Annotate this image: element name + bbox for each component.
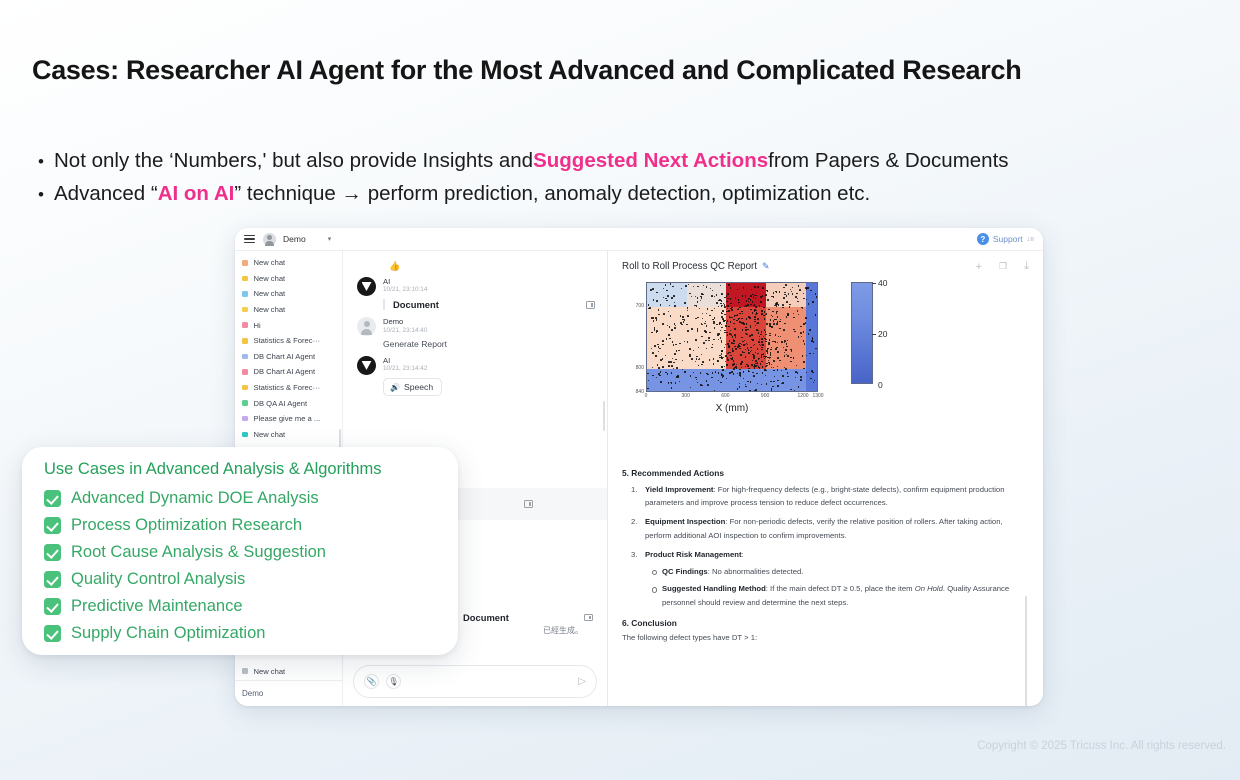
speech-icon: 🔊: [390, 383, 400, 392]
chat-label: Statistics & Forec···: [254, 336, 321, 345]
item-bold: Yield Improvement: [645, 485, 714, 494]
x-tick-label: 300: [682, 393, 690, 399]
bullet-text-post: from Papers & Documents: [768, 144, 1008, 177]
chat-scrollbar[interactable]: [603, 401, 606, 431]
copy-icon[interactable]: ❐: [999, 261, 1007, 272]
colorbar-tick-label: 0: [878, 380, 883, 390]
item-bold: Product Risk Management: [645, 550, 742, 559]
check-icon: [44, 490, 61, 507]
report-toolbar: + ❐ ⤓: [976, 260, 1029, 273]
bullet-marker: •: [38, 148, 54, 176]
list-item: Supply Chain Optimization: [44, 620, 438, 647]
chat-label: New chat: [254, 305, 286, 314]
chat-label: DB Chart AI Agent: [254, 352, 316, 361]
ai-avatar-icon: [357, 356, 376, 375]
list-item[interactable]: Please give me a ...: [235, 411, 342, 427]
chat-color-dot: [242, 432, 248, 438]
list-item: Equipment Inspection: For non-periodic d…: [631, 515, 1021, 541]
list-item: Root Cause Analysis & Suggestion: [44, 539, 438, 566]
bullet-item-2: • Advanced “AI on AI” technique → perfor…: [38, 177, 1228, 210]
item-text: :: [742, 550, 744, 559]
x-tick-label: 600: [721, 393, 729, 399]
chat-message-user: Demo 10/21, 23:14:40 Generate Report: [357, 317, 595, 348]
download-icon[interactable]: ⤓: [1024, 260, 1029, 273]
x-tick-label: 1200: [797, 393, 808, 399]
list-item: Yield Improvement: For high-frequency de…: [631, 483, 1021, 509]
chat-color-dot: [242, 369, 248, 375]
message-author: AI: [383, 356, 595, 365]
copyright-footer: Copyright © 2025 Tricuss Inc. All rights…: [977, 740, 1226, 752]
check-icon: [44, 625, 61, 642]
message-timestamp: 10/21, 23:14:42: [383, 365, 595, 374]
bullet-marker: •: [38, 181, 54, 209]
item-text: : If the main defect DT ≥ 0.5, place the…: [766, 584, 915, 593]
chat-color-dot: [242, 416, 248, 422]
use-case-label: Predictive Maintenance: [71, 597, 243, 616]
heatmap-plot-area: 700 800 840: [628, 282, 824, 422]
item-bold: Suggested Handling Method: [662, 584, 766, 593]
sidebar-account-footer[interactable]: Demo: [235, 680, 342, 706]
use-case-label: Root Cause Analysis & Suggestion: [71, 543, 326, 562]
hamburger-icon[interactable]: [244, 235, 255, 244]
generation-note: 已經生成。: [543, 625, 583, 636]
document-title: Document: [393, 299, 439, 310]
check-icon: [44, 598, 61, 615]
user-avatar-icon: [357, 317, 376, 336]
report-title: Roll to Roll Process QC Report: [622, 261, 757, 272]
check-icon: [44, 571, 61, 588]
item-text: : No abnormalities detected.: [708, 567, 804, 576]
ai-avatar-icon: [357, 277, 376, 296]
sidebar-account-label: Demo: [242, 689, 263, 698]
app-topbar: Demo ▾ ? Support ↓ıı: [235, 228, 1043, 251]
list-item: QC Findings: No abnormalities detected.: [651, 565, 1021, 578]
document-attachment-bottom[interactable]: Document: [453, 612, 593, 623]
chat-color-dot: [242, 291, 248, 297]
risk-sub-list: QC Findings: No abnormalities detected. …: [651, 565, 1021, 609]
heatmap-cells: [646, 282, 818, 392]
chat-message-ai-document: AI 10/21, 23:10:14 Document: [357, 277, 595, 310]
chat-color-dot: [242, 276, 248, 282]
question-icon: ?: [977, 233, 989, 245]
chat-label: New chat: [254, 274, 286, 283]
document-attachment[interactable]: Document: [383, 299, 595, 310]
list-item: Suggested Handling Method: If the main d…: [651, 582, 1021, 608]
message-timestamp: 10/21, 23:10:14: [383, 286, 595, 295]
qc-heatmap-chart: 700 800 840: [622, 282, 1029, 422]
report-panel: Roll to Roll Process QC Report ✎ + ❐ ⤓ 7…: [608, 251, 1043, 706]
list-item[interactable]: DB Chart AI Agent: [235, 364, 342, 380]
item-bold: QC Findings: [662, 567, 708, 576]
message-author: AI: [383, 277, 595, 286]
chat-label: New chat: [254, 430, 286, 439]
list-item[interactable]: Statistics & Forec···: [235, 380, 342, 396]
page-title: Cases: Researcher AI Agent for the Most …: [32, 55, 1021, 86]
colorbar-tick-mark: [872, 283, 876, 284]
use-case-label: Supply Chain Optimization: [71, 624, 265, 643]
section-paragraph: The following defect types have DT > 1:: [622, 633, 1021, 642]
bullet-text-post: ” technique → perform prediction, anomal…: [234, 177, 870, 210]
plus-icon[interactable]: +: [976, 261, 982, 273]
message-text: Generate Report: [383, 339, 595, 349]
use-cases-title: Use Cases in Advanced Analysis & Algorit…: [44, 460, 438, 479]
bullet-highlight: Suggested Next Actions: [533, 144, 768, 177]
check-icon: [44, 544, 61, 561]
open-panel-icon[interactable]: [584, 614, 593, 622]
list-item: Product Risk Management: QC Findings: No…: [631, 548, 1021, 609]
list-item[interactable]: New chat: [235, 286, 342, 302]
item-emphasis: On Hold: [915, 584, 943, 593]
chat-color-dot: [242, 354, 248, 360]
support-tail-icon: ↓ıı: [1027, 236, 1034, 243]
x-tick-label: 0: [645, 393, 648, 399]
send-icon[interactable]: ▷: [578, 676, 586, 687]
check-icon: [44, 517, 61, 534]
y-tick-label: 800: [636, 365, 644, 371]
chevron-down-icon[interactable]: ▾: [328, 235, 332, 243]
chat-message-ai-speech: AI 10/21, 23:14:42 🔊 Speech: [357, 356, 595, 396]
support-label: Support: [993, 234, 1023, 244]
pencil-icon[interactable]: ✎: [762, 261, 770, 272]
x-axis-label: X (mm): [646, 403, 818, 414]
list-item[interactable]: DB Chart AI Agent: [235, 349, 342, 365]
chat-color-dot: [242, 307, 248, 313]
colorbar-tick-label: 40: [878, 278, 887, 288]
list-item-bottom[interactable]: New chat: [235, 662, 342, 680]
use-case-label: Process Optimization Research: [71, 516, 302, 535]
bullet-list: • Not only the ‘Numbers,' but also provi…: [38, 144, 1228, 210]
bullet-text-pre: Not only the ‘Numbers,' but also provide…: [54, 144, 533, 177]
use-cases-card: Use Cases in Advanced Analysis & Algorit…: [22, 447, 458, 655]
chat-label: New chat: [254, 667, 286, 676]
colorbar-tick-mark: [872, 334, 876, 335]
message-timestamp: 10/21, 23:14:40: [383, 327, 595, 336]
message-composer[interactable]: 📎 🎙 ▷: [353, 665, 597, 698]
recommended-actions-list: Yield Improvement: For high-frequency de…: [631, 483, 1021, 609]
colorbar-gradient: [851, 282, 873, 384]
colorbar: 40 20 0: [851, 282, 873, 422]
chat-color-dot: [242, 322, 248, 328]
chat-color-dot: [242, 668, 248, 674]
report-header: Roll to Roll Process QC Report ✎ + ❐ ⤓: [622, 260, 1029, 273]
open-panel-icon[interactable]: [586, 301, 595, 309]
microphone-icon[interactable]: 🎙: [386, 674, 401, 689]
bullet-item-1: • Not only the ‘Numbers,' but also provi…: [38, 144, 1228, 177]
paperclip-icon[interactable]: 📎: [364, 674, 379, 689]
chat-label: Statistics & Forec···: [254, 383, 321, 392]
chat-color-dot: [242, 400, 248, 406]
chat-label: DB QA AI Agent: [254, 399, 308, 408]
avatar[interactable]: [263, 233, 276, 246]
x-tick-label: 1300: [812, 393, 823, 399]
x-tick-label: 900: [761, 393, 769, 399]
list-item: Quality Control Analysis: [44, 566, 438, 593]
item-bold: Equipment Inspection: [645, 517, 725, 526]
y-tick-label: 840: [636, 389, 644, 395]
list-item: Predictive Maintenance: [44, 593, 438, 620]
use-case-label: Advanced Dynamic DOE Analysis: [71, 489, 319, 508]
colorbar-tick-label: 20: [878, 329, 887, 339]
section-heading: 5. Recommended Actions: [622, 468, 1021, 478]
chat-label: Hi: [254, 321, 261, 330]
list-item[interactable]: New chat: [235, 255, 342, 271]
list-item: Advanced Dynamic DOE Analysis: [44, 485, 438, 512]
section-heading: 6. Conclusion: [622, 618, 1021, 628]
chat-label: DB Chart AI Agent: [254, 367, 316, 376]
chat-label: New chat: [254, 258, 286, 267]
thumbs-up-icon[interactable]: 👍: [389, 261, 595, 272]
list-item[interactable]: New chat: [235, 427, 342, 443]
document-title: Document: [463, 612, 509, 623]
list-item[interactable]: New chat: [235, 271, 342, 287]
list-item[interactable]: DB QA AI Agent: [235, 395, 342, 411]
use-case-label: Quality Control Analysis: [71, 570, 245, 589]
defect-scatter-points: [647, 283, 817, 391]
speech-label: Speech: [404, 382, 433, 392]
support-button[interactable]: ? Support ↓ıı: [977, 233, 1034, 245]
chat-color-dot: [242, 338, 248, 344]
open-panel-icon[interactable]: [524, 500, 533, 508]
speech-button[interactable]: 🔊 Speech: [383, 378, 442, 396]
report-content: 5. Recommended Actions Yield Improvement…: [622, 468, 1029, 642]
list-item: Process Optimization Research: [44, 512, 438, 539]
chat-label: Please give me a ...: [254, 414, 321, 423]
account-name: Demo: [283, 234, 306, 244]
list-item[interactable]: New chat: [235, 302, 342, 318]
bullet-highlight: AI on AI: [158, 177, 235, 210]
list-item[interactable]: Statistics & Forec···: [235, 333, 342, 349]
y-axis: 700 800 840: [628, 282, 646, 392]
list-item[interactable]: Hi: [235, 317, 342, 333]
y-tick-label: 700: [636, 303, 644, 309]
chat-label: New chat: [254, 289, 286, 298]
message-author: Demo: [383, 317, 595, 326]
chat-color-dot: [242, 260, 248, 266]
bullet-text-pre: Advanced “: [54, 177, 158, 210]
report-scrollbar[interactable]: [1025, 596, 1028, 706]
chat-color-dot: [242, 385, 248, 391]
